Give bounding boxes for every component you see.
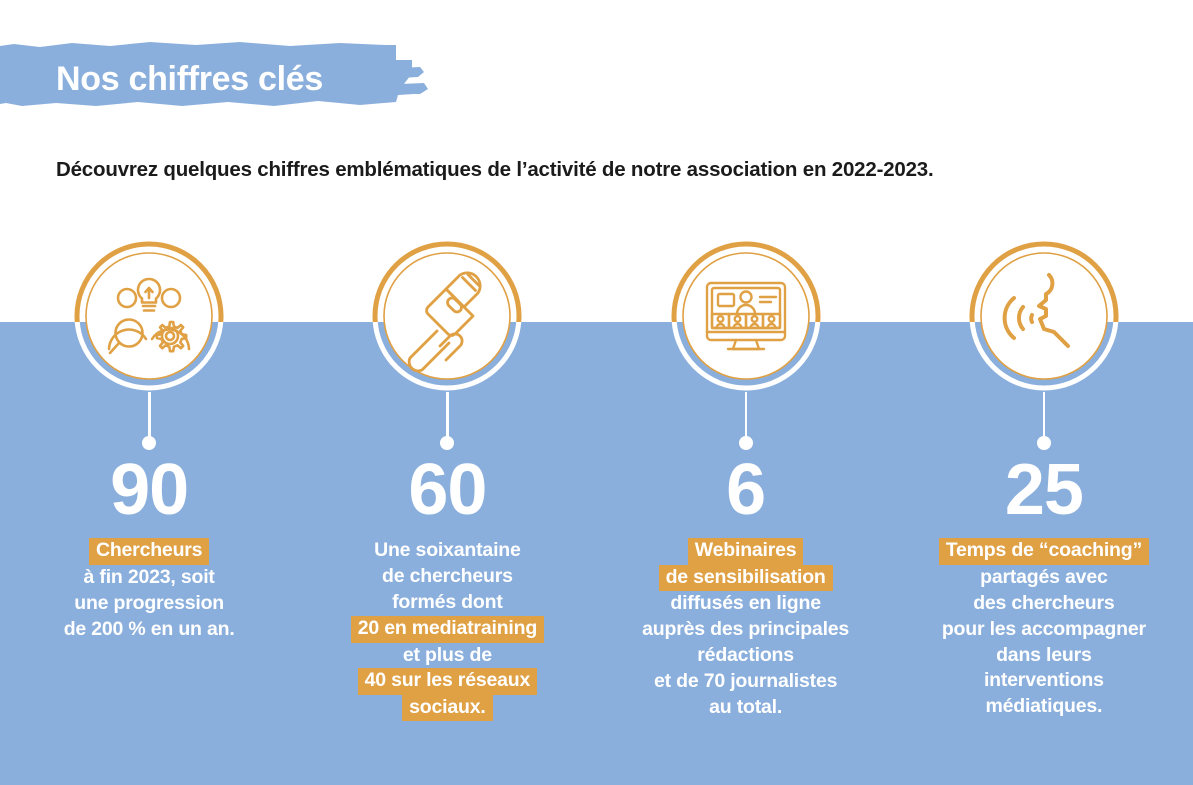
caption-line: pour les accompagner — [939, 617, 1149, 643]
medallion-1 — [69, 236, 229, 396]
caption-line: de chercheurs — [351, 564, 544, 590]
caption-line: au total. — [642, 695, 849, 721]
caption-line: et de 70 journalistes — [642, 669, 849, 695]
caption-line: médiatiques. — [939, 694, 1149, 720]
stat-number-4: 25 — [1005, 456, 1083, 524]
caption-line: rédactions — [642, 643, 849, 669]
caption-line: dans leurs — [939, 643, 1149, 669]
stat-column-1: 90 Chercheurs à fin 2023, soit une progr… — [0, 236, 298, 721]
stat-caption-3: Webinaires de sensibilisation diffusés e… — [642, 538, 849, 720]
caption-line: Une soixantaine — [351, 538, 544, 564]
infographic-page: Nos chiffres clés Découvrez quelques chi… — [0, 0, 1193, 785]
caption-line: à fin 2023, soit — [64, 565, 235, 591]
caption-line: 40 sur les réseaux — [351, 668, 544, 694]
connector-dot — [142, 436, 156, 450]
caption-highlight: Temps de “coaching” — [939, 538, 1149, 564]
stat-number-2: 60 — [408, 456, 486, 524]
stat-number-3: 6 — [726, 456, 765, 524]
caption-line: formés dont — [351, 590, 544, 616]
stat-caption-1: Chercheurs à fin 2023, soit une progress… — [64, 538, 235, 642]
caption-highlight: de sensibilisation — [659, 565, 833, 591]
stat-number-1: 90 — [110, 456, 188, 524]
connector-1 — [142, 392, 156, 454]
connector-dot — [1037, 436, 1051, 450]
caption-highlight: Webinaires — [688, 538, 804, 564]
caption-highlight: 40 sur les réseaux — [358, 668, 538, 694]
connector-stem — [1043, 392, 1046, 440]
caption-highlight: sociaux. — [402, 695, 492, 721]
caption-line: partagés avec — [939, 565, 1149, 591]
stat-caption-2: Une soixantaine de chercheurs formés don… — [351, 538, 544, 721]
stat-caption-4: Temps de “coaching” partagés avec des ch… — [939, 538, 1149, 720]
stat-column-2: 60 Une soixantaine de chercheurs formés … — [298, 236, 596, 721]
connector-stem — [446, 392, 449, 440]
medallion-3 — [666, 236, 826, 396]
caption-line: diffusés en ligne — [642, 591, 849, 617]
subtitle-text: Découvrez quelques chiffres emblématique… — [56, 158, 934, 182]
caption-line: et plus de — [351, 643, 544, 669]
caption-line: de sensibilisation — [642, 565, 849, 591]
medallion-2 — [367, 236, 527, 396]
caption-highlight: Chercheurs — [89, 538, 209, 564]
caption-line: interventions — [939, 668, 1149, 694]
connector-3 — [739, 392, 753, 454]
stat-column-3: 6 Webinaires de sensibilisation diffusés… — [597, 236, 895, 721]
caption-line: de 200 % en un an. — [64, 617, 235, 643]
caption-line: sociaux. — [351, 695, 544, 721]
connector-dot — [440, 436, 454, 450]
caption-line: auprès des principales — [642, 617, 849, 643]
connector-stem — [148, 392, 151, 440]
caption-line: Temps de “coaching” — [939, 538, 1149, 564]
stat-column-4: 25 Temps de “coaching” partagés avec des… — [895, 236, 1193, 721]
stats-row: 90 Chercheurs à fin 2023, soit une progr… — [0, 236, 1193, 721]
connector-4 — [1037, 392, 1051, 454]
page-title: Nos chiffres clés — [56, 60, 323, 99]
caption-line: des chercheurs — [939, 591, 1149, 617]
caption-line: Webinaires — [642, 538, 849, 564]
caption-line: une progression — [64, 591, 235, 617]
caption-line: 20 en mediatraining — [351, 616, 544, 642]
caption-highlight: 20 en mediatraining — [351, 616, 544, 642]
caption-line: Chercheurs — [64, 538, 235, 564]
connector-stem — [745, 392, 748, 440]
connector-dot — [739, 436, 753, 450]
medallion-4 — [964, 236, 1124, 396]
connector-2 — [440, 392, 454, 454]
